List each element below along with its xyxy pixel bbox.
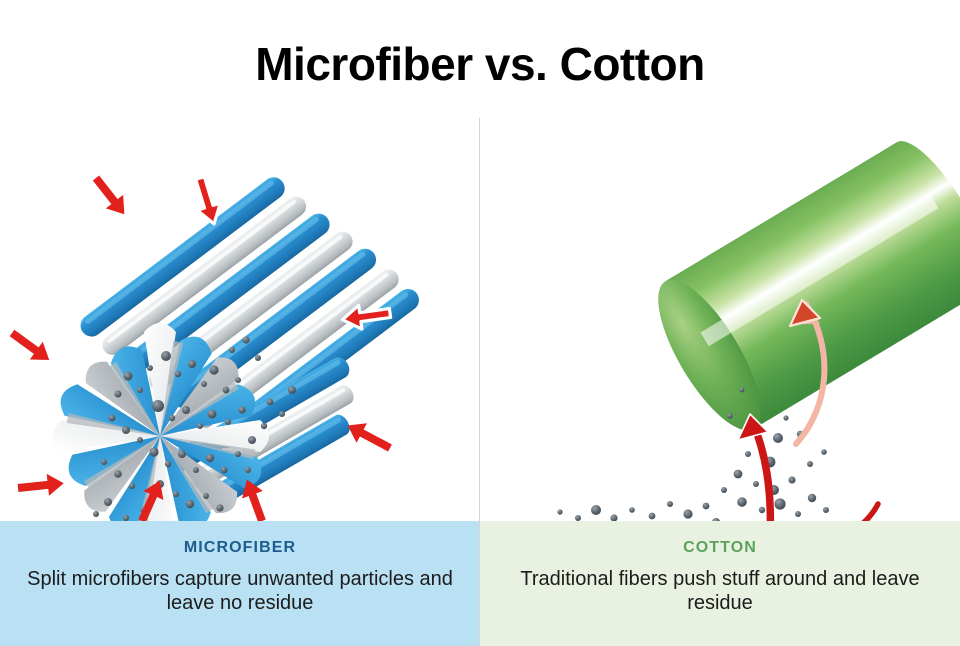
panel-microfiber: MICROFIBER Split microfibers capture unw… [0,118,480,646]
caption-heading-cotton: COTTON [683,539,757,557]
cotton-fiber-cylinder [639,129,960,444]
microfiber-illustration [0,118,480,521]
arrow-icon [6,324,56,369]
panel-divider [479,118,480,646]
title-bar: Microfiber vs. Cotton [0,0,960,118]
arrow-icon [87,171,133,221]
arrow-icon [342,416,395,458]
arrow-icon [17,472,65,499]
caption-body-cotton: Traditional fibers push stuff around and… [505,567,935,616]
infographic-root: Microfiber vs. Cotton [0,0,960,646]
microfiber-star-fiber-diagram [0,118,480,521]
cotton-illustration [480,118,960,521]
caption-microfiber: MICROFIBER Split microfibers capture unw… [0,521,480,646]
cotton-cylinder-fiber-diagram [480,118,960,521]
page-title: Microfiber vs. Cotton [255,31,705,87]
caption-cotton: COTTON Traditional fibers push stuff aro… [480,521,960,646]
caption-body-microfiber: Split microfibers capture unwanted parti… [25,567,455,616]
comparison-panels: MICROFIBER Split microfibers capture unw… [0,118,960,646]
caption-heading-microfiber: MICROFIBER [184,539,296,557]
panel-cotton: COTTON Traditional fibers push stuff aro… [480,118,960,646]
